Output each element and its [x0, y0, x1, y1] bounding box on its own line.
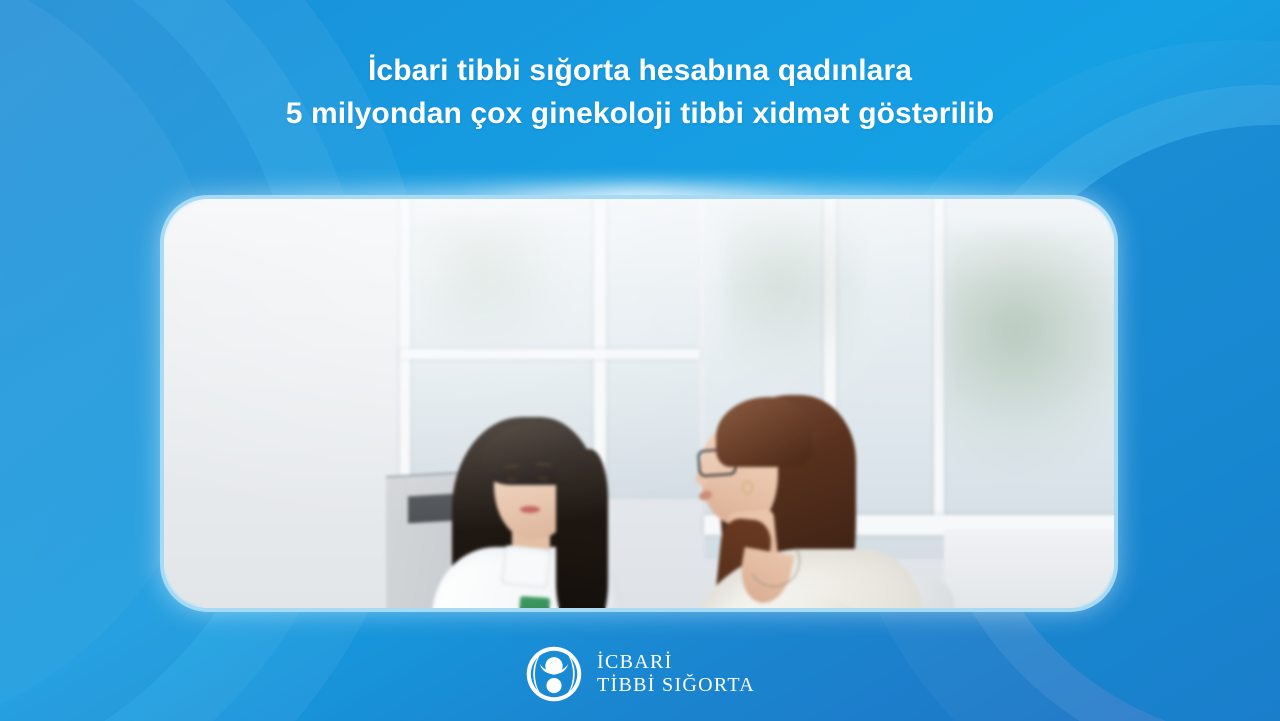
doctor-collar	[500, 545, 552, 590]
foliage-left	[414, 219, 584, 349]
wall-left	[164, 199, 404, 608]
headline-line-2: 5 milyondan çox ginekoloji tibbi xidmət …	[0, 93, 1280, 136]
doctor-eye-right	[538, 476, 549, 481]
brand-logo-line-2: TİBBİ SIĞORTA	[597, 674, 755, 697]
photo-image	[164, 199, 1114, 608]
wall-right	[944, 529, 1114, 608]
monitor-sticker	[408, 494, 455, 524]
brand-logo: İCBARİ TİBBİ SIĞORTA	[0, 645, 1280, 703]
icbari-tibbi-sigorta-emblem-icon	[525, 645, 583, 703]
brand-logo-text: İCBARİ TİBBİ SIĞORTA	[597, 651, 755, 697]
window-transom-1	[400, 349, 700, 359]
doctor-name-badge	[518, 596, 550, 608]
foliage-center	[724, 209, 864, 389]
doctor-lips	[520, 506, 540, 513]
brand-logo-line-1: İCBARİ	[597, 651, 755, 674]
banner-headline: İcbari tibbi sığorta hesabına qadınlara …	[0, 50, 1280, 135]
window-mullion-4	[934, 199, 944, 529]
photo-card	[160, 195, 1118, 612]
doctor-eye-left	[506, 477, 517, 482]
foliage-right	[944, 229, 1114, 479]
headline-line-1: İcbari tibbi sığorta hesabına qadınlara	[368, 54, 912, 87]
doctor-hair-side	[556, 449, 608, 608]
banner-canvas: İcbari tibbi sığorta hesabına qadınlara …	[0, 0, 1280, 721]
patient-earring	[742, 481, 753, 494]
